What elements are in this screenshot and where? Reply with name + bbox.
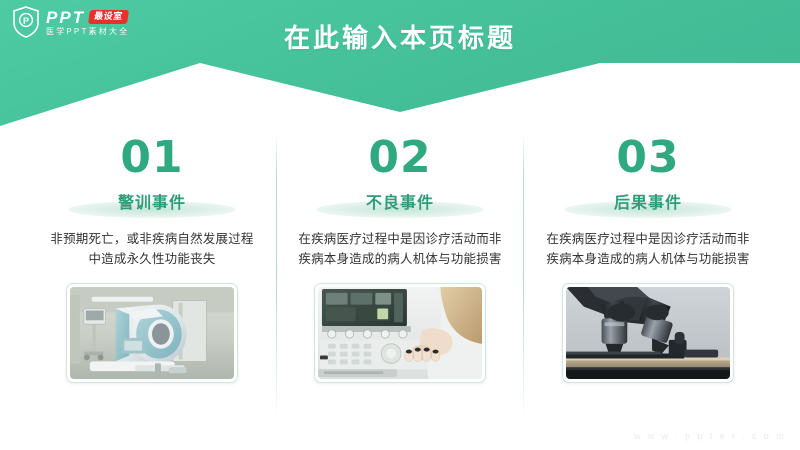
ultrasound-console-photo [314,283,486,383]
content-column-2: 02 不良事件 在疾病医疗过程中是因诊疗活动而非疾病本身造成的病人机体与功能损害 [276,130,524,430]
column-subtitle-2: 不良事件 [366,189,434,213]
logo-subtitle: 医学PPT素材大全 [46,28,129,36]
column-subtitle-wrap-2: 不良事件 [300,187,500,215]
page-header: P PPT 最设室 医学PPT素材大全 在此输入本页标题 [0,0,800,140]
ct-scanner-photo-image [70,287,234,379]
column-body-2: 在疾病医疗过程中是因诊疗活动而非疾病本身造成的病人机体与功能损害 [297,229,503,269]
column-subtitle-wrap-1: 警训事件 [52,187,252,215]
column-number-2: 02 [368,136,431,180]
shield-icon: P [12,6,40,38]
column-body-1: 非预期死亡，或非疾病自然发展过程中造成永久性功能丧失 [49,229,255,269]
column-subtitle-3: 后果事件 [614,189,682,213]
logo-badge: 最设室 [88,10,128,24]
microscope-photo-image [566,287,730,379]
column-number-1: 01 [120,136,183,180]
content-columns: 01 警训事件 非预期死亡，或非疾病自然发展过程中造成永久性功能丧失 [0,130,800,430]
column-body-3: 在疾病医疗过程中是因诊疗活动而非疾病本身造成的病人机体与功能损害 [545,229,751,269]
site-watermark: w w w . p p t e r . c o m [634,431,786,441]
column-subtitle-wrap-3: 后果事件 [548,187,748,215]
ct-scanner-photo [66,283,238,383]
microscope-photo [562,283,734,383]
svg-text:P: P [23,16,29,26]
ultrasound-console-photo-image [318,287,482,379]
column-subtitle-1: 警训事件 [118,189,186,213]
logo-text-group: PPT 最设室 医学PPT素材大全 [46,9,129,36]
column-number-3: 03 [616,136,679,180]
column-divider-1 [276,134,277,422]
content-column-3: 03 后果事件 在疾病医疗过程中是因诊疗活动而非疾病本身造成的病人机体与功能损害 [524,130,772,430]
logo-top-row: PPT 最设室 [46,9,129,26]
content-column-1: 01 警训事件 非预期死亡，或非疾病自然发展过程中造成永久性功能丧失 [28,130,276,430]
logo-ppt-text: PPT [46,9,85,26]
brand-logo[interactable]: P PPT 最设室 医学PPT素材大全 [12,6,129,38]
column-divider-2 [523,134,524,422]
